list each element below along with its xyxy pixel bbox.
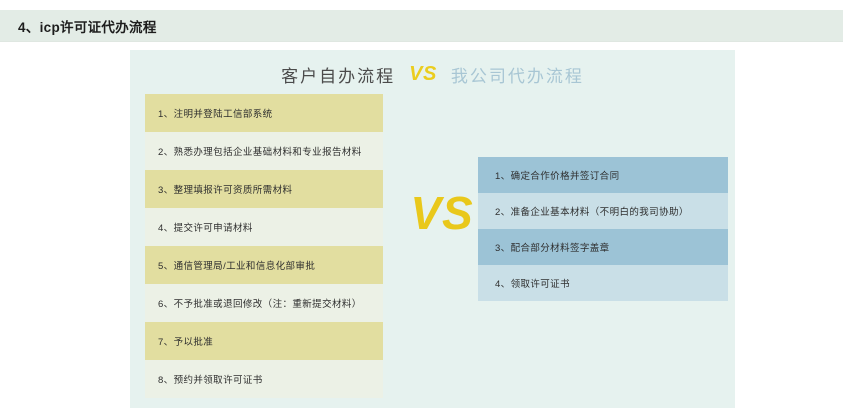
list-item: 7、予以批准 xyxy=(145,322,383,360)
list-item: 5、通信管理局/工业和信息化部审批 xyxy=(145,246,383,284)
heading-customer-flow: 客户自办流程 xyxy=(281,62,395,87)
list-item: 1、注明并登陆工信部系统 xyxy=(145,94,383,132)
list-item: 8、预约并领取许可证书 xyxy=(145,360,383,398)
list-item: 2、准备企业基本材料（不明白的我司协助） xyxy=(478,193,728,229)
list-item: 4、领取许可证书 xyxy=(478,265,728,301)
list-item: 1、确定合作价格并签订合同 xyxy=(478,157,728,193)
list-item: 6、不予批准或退回修改（注：重新提交材料） xyxy=(145,284,383,322)
column-headings: 客户自办流程 VS 我公司代办流程 xyxy=(130,58,735,90)
list-item: 4、提交许可申请材料 xyxy=(145,208,383,246)
page-title: 4、icp许可证代办流程 xyxy=(18,16,157,36)
section-header: 4、icp许可证代办流程 xyxy=(0,10,843,42)
list-item: 3、配合部分材料签字盖章 xyxy=(478,229,728,265)
vs-divider-label: VS xyxy=(392,190,492,236)
company-flow-list: 1、确定合作价格并签订合同 2、准备企业基本材料（不明白的我司协助） 3、配合部… xyxy=(478,157,728,301)
customer-flow-list: 1、注明并登陆工信部系统 2、熟悉办理包括企业基础材料和专业报告材料 3、整理填… xyxy=(145,94,383,398)
heading-vs-label: VS xyxy=(409,63,437,86)
list-item: 2、熟悉办理包括企业基础材料和专业报告材料 xyxy=(145,132,383,170)
comparison-panel: 客户自办流程 VS 我公司代办流程 1、注明并登陆工信部系统 2、熟悉办理包括企… xyxy=(130,50,735,408)
heading-company-flow: 我公司代办流程 xyxy=(451,62,584,87)
list-item: 3、整理填报许可资质所需材料 xyxy=(145,170,383,208)
